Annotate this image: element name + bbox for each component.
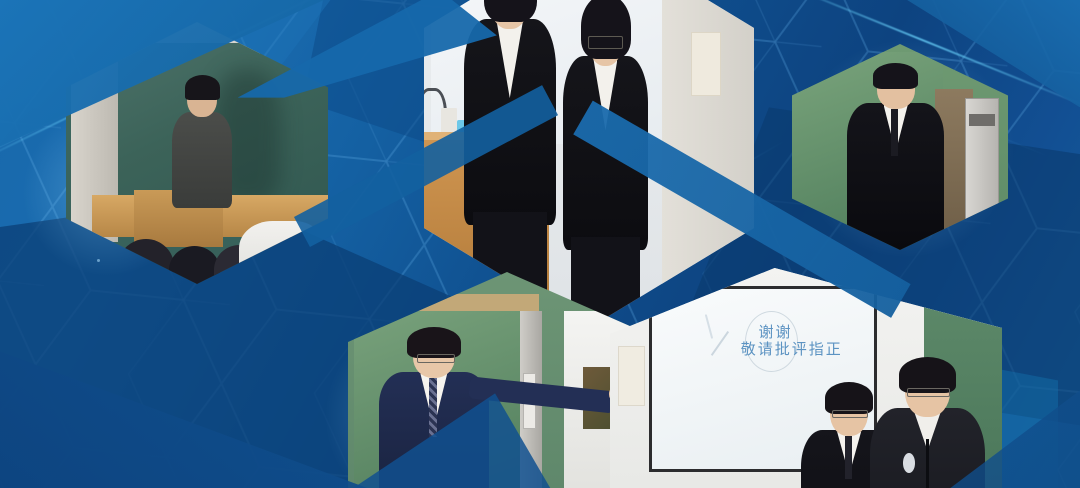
hoodie-body — [172, 112, 232, 208]
jacket-logo — [903, 453, 915, 473]
ac-vent — [969, 114, 995, 126]
glasses-icon — [417, 354, 455, 363]
jacket-zipper — [926, 439, 928, 488]
hair — [873, 63, 918, 88]
student-in-hoodie — [877, 364, 979, 488]
photo-collage-banner: bad boy are here 谢 谢 — [0, 0, 1080, 488]
striped-necktie — [429, 378, 437, 436]
necktie — [845, 436, 852, 480]
presenting-student — [171, 80, 234, 206]
suited-student — [852, 69, 938, 250]
sparkle-dot-2 — [97, 259, 100, 262]
slide-stroke-2 — [704, 314, 712, 339]
wall-poster — [618, 346, 645, 406]
slide-critique-line: 敬请批评指正 — [741, 338, 843, 359]
hair — [185, 75, 220, 100]
glasses-icon — [832, 410, 868, 418]
slide-stroke-1 — [711, 331, 729, 356]
necktie — [891, 109, 898, 156]
glasses-icon — [588, 36, 622, 49]
glasses-icon — [907, 388, 950, 397]
hair — [825, 382, 873, 414]
hair — [581, 0, 631, 59]
presenter — [386, 334, 481, 488]
wall-notice — [691, 32, 721, 96]
